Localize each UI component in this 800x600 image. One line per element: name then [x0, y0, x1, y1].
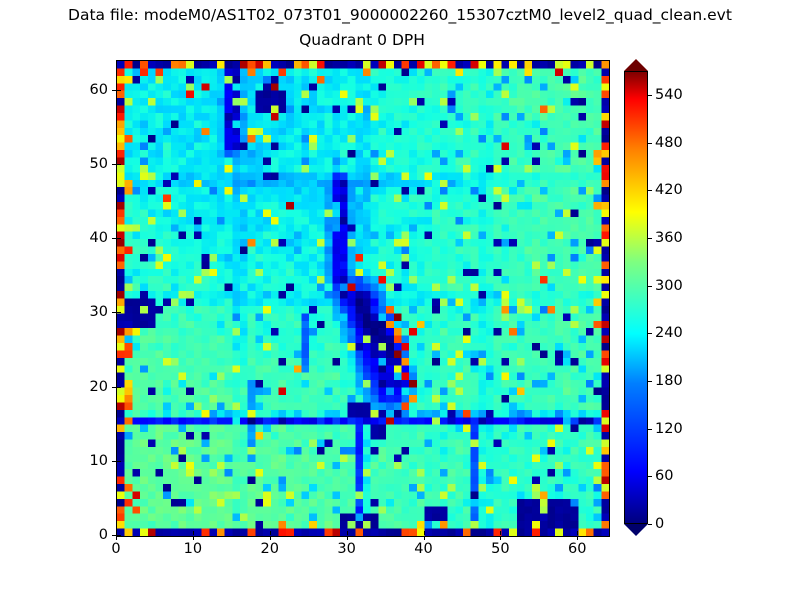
x-tick-mark	[500, 536, 501, 540]
heatmap-axes[interactable]	[116, 60, 610, 537]
y-tick-mark-inner	[117, 90, 121, 91]
colorbar-tick-label: 300	[655, 278, 683, 294]
x-tick-label: 60	[568, 541, 586, 557]
colorbar-tick-label: 540	[655, 87, 683, 103]
colorbar[interactable]	[624, 60, 648, 535]
heatmap-image[interactable]	[117, 61, 609, 536]
x-tick-mark-inner	[424, 531, 425, 535]
y-tick-mark	[112, 535, 116, 536]
data-file-suptitle: Data file: modeM0/AS1T02_073T01_90000022…	[0, 6, 800, 24]
colorbar-tick-label: 60	[655, 468, 673, 484]
x-tick-mark	[270, 536, 271, 540]
y-tick-label: 30	[90, 304, 108, 320]
y-tick-mark	[112, 387, 116, 388]
colorbar-extend-max-arrow-icon	[624, 59, 648, 71]
x-tick-mark	[424, 536, 425, 540]
colorbar-tick-label: 180	[655, 373, 683, 389]
x-tick-mark	[577, 536, 578, 540]
y-tick-mark-inner	[117, 535, 121, 536]
colorbar-tick-label: 120	[655, 421, 683, 437]
x-tick-label: 50	[491, 541, 509, 557]
y-tick-mark-inner	[117, 387, 121, 388]
y-tick-mark	[112, 461, 116, 462]
x-tick-mark-inner	[270, 531, 271, 535]
y-tick-label: 40	[90, 230, 108, 246]
x-tick-label: 20	[261, 541, 279, 557]
colorbar-tick-mark	[648, 190, 652, 191]
colorbar-tick-label: 240	[655, 325, 683, 341]
colorbar-tick-mark	[648, 333, 652, 334]
x-tick-mark-inner	[577, 531, 578, 535]
x-tick-label: 0	[111, 541, 120, 557]
x-tick-label: 10	[184, 541, 202, 557]
y-tick-mark-inner	[117, 238, 121, 239]
y-tick-label: 20	[90, 379, 108, 395]
y-tick-mark	[112, 238, 116, 239]
matplotlib-figure: Data file: modeM0/AS1T02_073T01_90000022…	[0, 0, 800, 600]
colorbar-tick-mark	[648, 286, 652, 287]
x-tick-mark	[347, 536, 348, 540]
colorbar-tick-mark	[648, 524, 652, 525]
colorbar-tick-label: 420	[655, 182, 683, 198]
colorbar-tick-mark	[648, 429, 652, 430]
colorbar-tick-mark	[648, 143, 652, 144]
x-tick-mark-inner	[347, 531, 348, 535]
y-tick-label: 50	[90, 156, 108, 172]
y-tick-mark	[112, 164, 116, 165]
y-tick-mark	[112, 312, 116, 313]
colorbar-tick-label: 0	[655, 516, 664, 532]
y-tick-label: 60	[90, 82, 108, 98]
colorbar-tick-label: 480	[655, 135, 683, 151]
colorbar-tick-mark	[648, 476, 652, 477]
colorbar-tick-mark	[648, 238, 652, 239]
x-tick-label: 30	[337, 541, 355, 557]
colorbar-gradient	[624, 71, 648, 524]
x-tick-mark	[116, 536, 117, 540]
y-tick-mark-inner	[117, 164, 121, 165]
page-title: Quadrant 0 DPH	[116, 31, 608, 49]
x-tick-label: 40	[414, 541, 432, 557]
colorbar-extend-min-arrow-icon	[624, 524, 648, 536]
y-tick-label: 0	[99, 527, 108, 543]
x-tick-mark	[193, 536, 194, 540]
x-tick-mark-inner	[193, 531, 194, 535]
colorbar-tick-label: 360	[655, 230, 683, 246]
y-tick-mark-inner	[117, 312, 121, 313]
x-tick-mark-inner	[500, 531, 501, 535]
y-tick-mark-inner	[117, 461, 121, 462]
y-tick-mark	[112, 90, 116, 91]
colorbar-tick-mark	[648, 95, 652, 96]
y-tick-label: 10	[90, 453, 108, 469]
colorbar-tick-mark	[648, 381, 652, 382]
